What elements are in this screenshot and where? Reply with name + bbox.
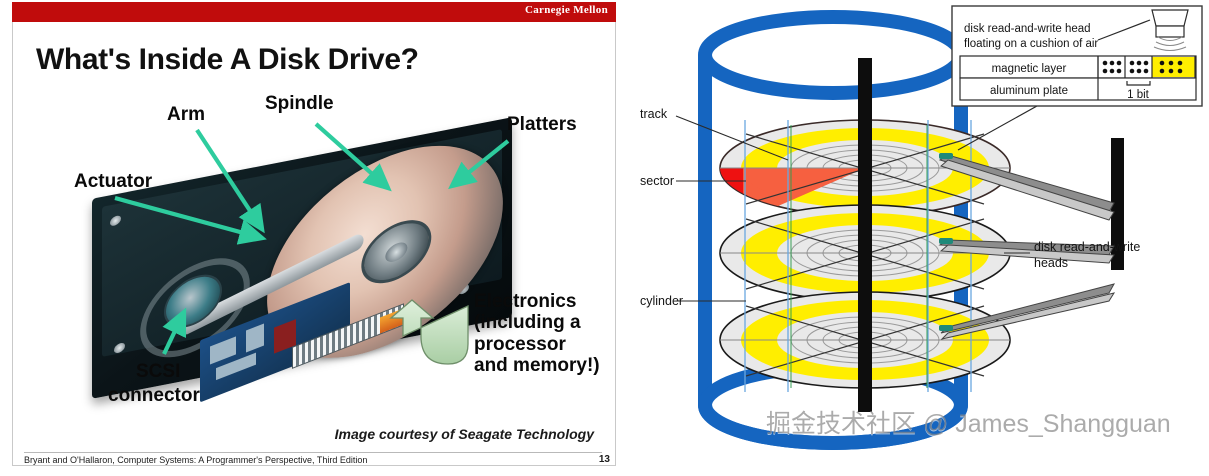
callout-label-scsi-line2: connector xyxy=(108,386,200,406)
callout-label-spindle: Spindle xyxy=(265,94,334,114)
head-detail-inset: disk read-and-write head floating on a c… xyxy=(952,6,1202,106)
carnegie-mellon-banner: Carnegie Mellon xyxy=(12,2,616,22)
electronics-line-2: (including a xyxy=(474,312,620,333)
lecture-slide: Carnegie Mellon What's Inside A Disk Dri… xyxy=(0,0,628,476)
inset-caption-line1: disk read-and-write head xyxy=(964,23,1091,35)
brand-label: Carnegie Mellon xyxy=(525,4,608,16)
callout-label-arm: Arm xyxy=(167,105,205,125)
electronics-line-3: processor xyxy=(474,334,620,355)
watermark-text: 掘金技术社区 @ James_Shangguan xyxy=(766,404,1171,440)
callout-label-platters: Platters xyxy=(507,115,577,135)
footer-citation: Bryant and O'Hallaron, Computer Systems:… xyxy=(24,455,367,465)
label-track: track xyxy=(640,107,668,121)
label-sector: sector xyxy=(640,174,674,188)
inset-caption-line2: floating on a cushion of air xyxy=(964,38,1098,50)
spindle-shaft xyxy=(858,58,872,412)
callout-label-scsi-line1: SCSI xyxy=(136,362,180,382)
callout-label-electronics: Electronics (including a processor and m… xyxy=(474,291,620,376)
callout-label-actuator: Actuator xyxy=(74,172,152,192)
electronics-line-1: Electronics xyxy=(474,291,620,312)
page-title: What's Inside A Disk Drive? xyxy=(36,43,419,77)
chip-icon xyxy=(246,324,264,353)
footer-divider xyxy=(24,452,602,453)
chip-icon xyxy=(210,336,236,364)
slide-page-number: 13 xyxy=(599,454,610,465)
disk-geometry-diagram: track sector cylinder disk read-and-writ… xyxy=(628,0,1209,476)
drive-chassis xyxy=(92,117,512,399)
label-heads-line2: heads xyxy=(1034,256,1068,270)
spindle-hub xyxy=(360,209,434,295)
inset-bit-label: 1 bit xyxy=(1127,89,1150,101)
label-cylinder: cylinder xyxy=(640,294,683,308)
screenshot-root: Carnegie Mellon What's Inside A Disk Dri… xyxy=(0,0,1209,476)
inset-row-aluminum-plate: aluminum plate xyxy=(990,85,1068,97)
electronics-line-4: and memory!) xyxy=(474,355,620,376)
spindle-center xyxy=(385,239,408,266)
hard-drive-photo xyxy=(92,128,512,376)
label-heads-line1: disk read-and-write xyxy=(1034,240,1140,254)
inset-row-magnetic-layer: magnetic layer xyxy=(992,63,1067,75)
image-credit: Image courtesy of Seagate Technology xyxy=(335,426,594,442)
